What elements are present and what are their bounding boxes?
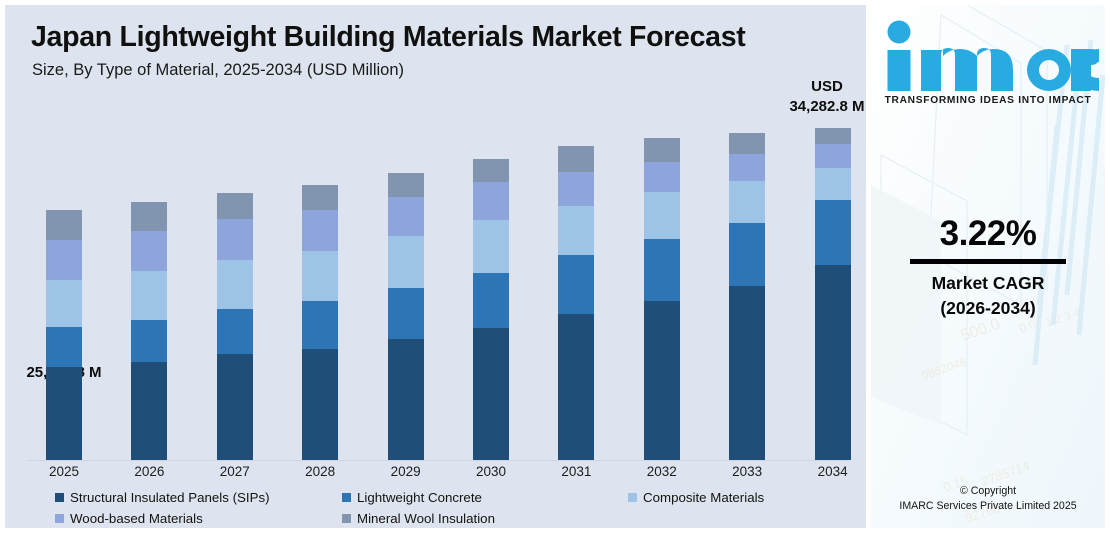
imarc-logo-icon: [877, 19, 1099, 93]
copyright-notice: © Copyright IMARC Services Private Limit…: [871, 484, 1105, 515]
legend-swatch-icon: [55, 493, 64, 502]
legend-label: Structural Insulated Panels (SIPs): [70, 490, 270, 505]
cagr-label-line1: Market CAGR: [871, 271, 1105, 296]
bar-segment: [388, 288, 424, 339]
bar-segment: [131, 320, 167, 362]
legend-swatch-icon: [342, 493, 351, 502]
x-tick-2026: 2026: [119, 464, 179, 479]
bar-segment: [388, 197, 424, 237]
bar-segment: [558, 255, 594, 314]
bar-segment: [217, 354, 253, 460]
bar-2026: [131, 202, 167, 460]
bar-segment: [302, 185, 338, 210]
axis-baseline: [27, 460, 849, 461]
bar-segment: [815, 168, 851, 201]
bar-segment: [558, 314, 594, 460]
bar-2033: [729, 133, 765, 460]
bar-segment: [558, 146, 594, 172]
bar-segment: [644, 239, 680, 301]
bar-segment: [302, 251, 338, 301]
bar-segment: [302, 349, 338, 460]
infographic-frame: Japan Lightweight Building Materials Mar…: [0, 0, 1110, 533]
bar-segment: [473, 273, 509, 329]
bar-segment: [388, 173, 424, 197]
x-tick-2028: 2028: [290, 464, 350, 479]
bar-segment: [729, 133, 765, 154]
bar-segment: [131, 362, 167, 460]
bar-segment: [217, 260, 253, 309]
bar-segment: [131, 231, 167, 272]
legend-swatch-icon: [628, 493, 637, 502]
bar-segment: [644, 162, 680, 192]
bar-segment: [46, 240, 82, 280]
x-tick-2034: 2034: [803, 464, 863, 479]
chart-panel: Japan Lightweight Building Materials Mar…: [5, 5, 866, 528]
bar-segment: [644, 301, 680, 460]
bar-segment: [644, 138, 680, 162]
legend-item[interactable]: Composite Materials: [628, 490, 764, 505]
bar-segment: [558, 172, 594, 205]
cagr-divider: [910, 259, 1066, 264]
bar-segment: [473, 182, 509, 220]
x-tick-2029: 2029: [376, 464, 436, 479]
legend-label: Mineral Wool Insulation: [357, 511, 495, 526]
bar-segment: [217, 193, 253, 219]
bar-segment: [131, 271, 167, 319]
brand-tagline: TRANSFORMING IDEAS INTO IMPACT: [871, 95, 1105, 106]
bar-2029: [388, 173, 424, 460]
bar-segment: [729, 154, 765, 181]
bar-2028: [302, 185, 338, 460]
cagr-value: 3.22%: [871, 214, 1105, 254]
legend-item[interactable]: Mineral Wool Insulation: [342, 511, 495, 526]
legend-item[interactable]: Structural Insulated Panels (SIPs): [55, 490, 270, 505]
bar-segment: [131, 202, 167, 230]
bar-2025: [46, 210, 82, 460]
bar-segment: [815, 144, 851, 167]
bar-segment: [46, 367, 82, 460]
x-tick-2027: 2027: [205, 464, 265, 479]
x-tick-2030: 2030: [461, 464, 521, 479]
plot-area: [5, 5, 866, 471]
bar-segment: [217, 309, 253, 354]
bar-segment: [46, 280, 82, 327]
bar-segment: [302, 301, 338, 349]
bar-segment: [388, 236, 424, 287]
legend-swatch-icon: [342, 514, 351, 523]
cagr-label-line2: (2026-2034): [871, 296, 1105, 321]
copyright-line2: IMARC Services Private Limited 2025: [871, 499, 1105, 514]
bar-segment: [473, 159, 509, 182]
legend-label: Lightweight Concrete: [357, 490, 482, 505]
bar-segment: [46, 210, 82, 240]
bar-segment: [46, 327, 82, 367]
x-tick-2031: 2031: [546, 464, 606, 479]
bar-2034: [815, 128, 851, 460]
bar-segment: [644, 192, 680, 239]
bar-segment: [815, 200, 851, 265]
legend-swatch-icon: [55, 514, 64, 523]
legend-item[interactable]: Wood-based Materials: [55, 511, 203, 526]
bar-segment: [558, 206, 594, 255]
bar-segment: [815, 265, 851, 460]
brand-panel: 0.15 2785714 92768 0862048 500.0 0.0 1 2…: [871, 5, 1105, 528]
bar-segment: [217, 219, 253, 260]
x-tick-2032: 2032: [632, 464, 692, 479]
bar-segment: [473, 328, 509, 460]
bar-segment: [388, 339, 424, 460]
x-tick-2025: 2025: [34, 464, 94, 479]
bar-2027: [217, 193, 253, 460]
x-axis: 2025202620272028202920302031203220332034: [5, 464, 866, 486]
x-tick-2033: 2033: [717, 464, 777, 479]
copyright-line1: © Copyright: [871, 484, 1105, 499]
bar-segment: [729, 286, 765, 460]
bar-segment: [729, 181, 765, 223]
chart-legend: Structural Insulated Panels (SIPs)Lightw…: [5, 487, 866, 528]
bar-segment: [473, 220, 509, 272]
bar-2031: [558, 146, 594, 460]
bar-segment: [729, 223, 765, 286]
legend-label: Composite Materials: [643, 490, 764, 505]
legend-label: Wood-based Materials: [70, 511, 203, 526]
brand-logo: TRANSFORMING IDEAS INTO IMPACT: [871, 19, 1105, 106]
bar-2032: [644, 138, 680, 460]
bar-segment: [302, 210, 338, 251]
bar-2030: [473, 159, 509, 460]
bar-segment: [815, 128, 851, 144]
cagr-label: Market CAGR (2026-2034): [871, 271, 1105, 321]
legend-item[interactable]: Lightweight Concrete: [342, 490, 482, 505]
